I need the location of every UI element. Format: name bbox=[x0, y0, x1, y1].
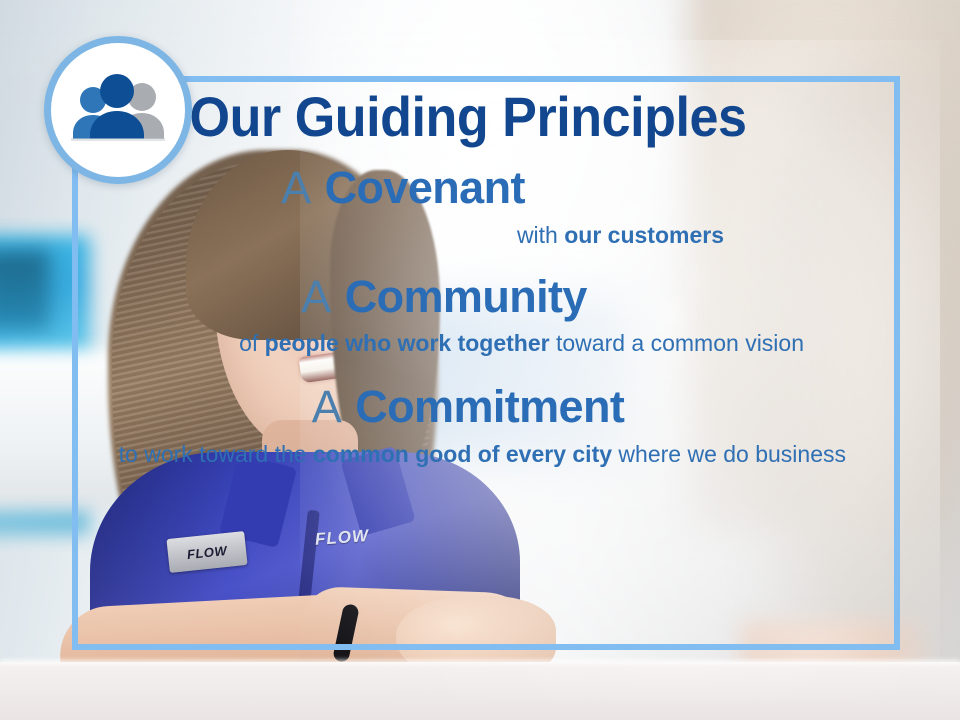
principle-heading: A Covenant bbox=[90, 164, 846, 212]
guiding-principles-badge bbox=[44, 36, 192, 184]
principle-article: A bbox=[301, 271, 332, 322]
principle-word: Community bbox=[345, 271, 587, 322]
principle-covenant: A Covenant with our customers bbox=[90, 164, 846, 251]
subtext-plain: toward a common vision bbox=[550, 330, 804, 356]
subtext-plain: to work toward the bbox=[119, 441, 313, 467]
principle-subtext: with our customers bbox=[90, 220, 846, 251]
copy-block: Our Guiding Principles A Covenant with o… bbox=[90, 76, 880, 650]
subtext-emphasis: people who work together bbox=[265, 330, 550, 356]
subtext-plain: with bbox=[517, 222, 564, 248]
principle-commitment: A Commitment to work toward the common g… bbox=[90, 383, 846, 470]
group-of-people-icon bbox=[66, 72, 170, 148]
subtext-emphasis: our customers bbox=[564, 222, 724, 248]
principle-heading: A Community bbox=[90, 273, 846, 321]
principle-word: Covenant bbox=[325, 162, 525, 213]
page-title: Our Guiding Principles bbox=[116, 76, 819, 146]
subtext-plain: where we do business bbox=[612, 441, 846, 467]
principle-heading: A Commitment bbox=[90, 383, 846, 431]
principle-subtext: to work toward the common good of every … bbox=[90, 439, 846, 470]
subtext-plain: of bbox=[239, 330, 265, 356]
principle-article: A bbox=[312, 381, 343, 432]
principle-community: A Community of people who work together … bbox=[90, 273, 846, 360]
principle-word: Commitment bbox=[355, 381, 624, 432]
subtext-emphasis: common good of every city bbox=[313, 441, 612, 467]
principle-article: A bbox=[281, 162, 312, 213]
white-table bbox=[0, 662, 960, 720]
principle-subtext: of people who work together toward a com… bbox=[90, 328, 846, 359]
table-edge-highlight bbox=[0, 660, 960, 664]
poster: FLOW FLOW Our Guiding Principles A Coven… bbox=[0, 0, 960, 720]
